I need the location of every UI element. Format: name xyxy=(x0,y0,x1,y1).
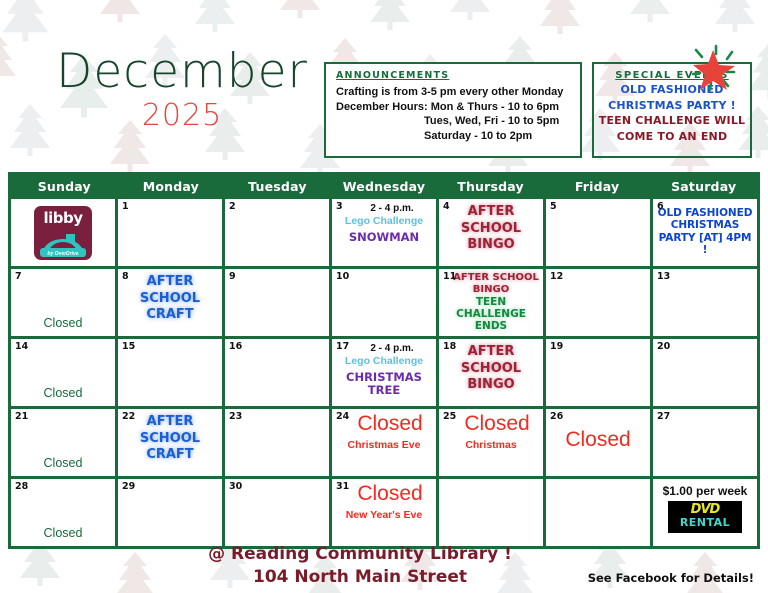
special-events-red-line-1: TEEN CHALLENGE WILL xyxy=(594,115,750,128)
day-number: 26 xyxy=(550,411,563,422)
day-cell-19[interactable]: 19 xyxy=(546,339,650,406)
weekday-header-wednesday: Wednesday xyxy=(331,175,438,199)
special-events-blue-line-2: CHRISTMAS PARTY ! xyxy=(594,100,750,113)
event-teen-line-2: ENDS xyxy=(475,321,507,333)
weekday-header-monday: Monday xyxy=(118,175,225,199)
event-teen-line-1: TEEN CHALLENGE xyxy=(441,297,541,321)
closed-label: Closed xyxy=(11,316,115,330)
day-number: 10 xyxy=(336,271,349,282)
dvd-rental-logo: DVD RENTAL xyxy=(668,501,742,533)
day-cell-17[interactable]: 17 2 - 4 p.m. Lego Challenge CHRISTMAS T… xyxy=(332,339,436,406)
month-title-block: December 2025 xyxy=(52,48,312,131)
day-cell-empty-1 xyxy=(439,479,543,546)
day-number: 27 xyxy=(657,411,670,422)
day-number: 8 xyxy=(122,271,129,282)
calendar-weekday-header-row: Sunday Monday Tuesday Wednesday Thursday… xyxy=(11,175,757,199)
day-cell-14[interactable]: 14 Closed xyxy=(11,339,115,406)
day-cell-10[interactable]: 10 xyxy=(332,269,436,336)
closed-label: Closed xyxy=(11,526,115,540)
day-number: 16 xyxy=(229,341,242,352)
day-number: 30 xyxy=(229,481,242,492)
day-number: 23 xyxy=(229,411,242,422)
event-bingo-line-2: BINGO xyxy=(473,284,509,295)
day-number: 4 xyxy=(443,201,450,212)
event-time: 2 - 4 p.m. xyxy=(354,203,413,214)
day-cell-2[interactable]: 2 xyxy=(225,199,329,266)
event-bingo-line-1: AFTER SCHOOL xyxy=(443,272,539,283)
event-craft-line-3: CRAFT xyxy=(146,307,193,324)
day-number: 3 xyxy=(336,201,343,212)
event-craft-line-1: AFTER xyxy=(147,414,194,431)
facebook-note: See Facebook for Details! xyxy=(588,571,754,585)
day-cell-12[interactable]: 12 xyxy=(546,269,650,336)
day-number: 7 xyxy=(15,271,22,282)
event-party-line-3: PARTY [AT] 4PM ! xyxy=(655,232,755,257)
announcements-heading: ANNOUNCEMENTS xyxy=(336,70,572,81)
day-cell-3[interactable]: 3 2 - 4 p.m. Lego Challenge SNOWMAN xyxy=(332,199,436,266)
holiday-label: New Year's Eve xyxy=(346,509,422,521)
announcements-line-4: Saturday - 10 to 2pm xyxy=(336,129,572,144)
day-cell-dvd-rental[interactable]: $1.00 per week DVD RENTAL xyxy=(653,479,757,546)
closed-label: Closed xyxy=(345,413,422,434)
day-cell-27[interactable]: 27 xyxy=(653,409,757,476)
day-cell-16[interactable]: 16 xyxy=(225,339,329,406)
page-footer: @ Reading Community Library ! 104 North … xyxy=(0,540,768,593)
day-cell-20[interactable]: 20 xyxy=(653,339,757,406)
weekday-header-sunday: Sunday xyxy=(11,175,118,199)
day-number: 24 xyxy=(336,411,349,422)
event-theme: CHRISTMAS TREE xyxy=(334,371,434,399)
weekday-header-saturday: Saturday xyxy=(650,175,757,199)
star-icon xyxy=(686,44,738,94)
event-craft-line-2: SCHOOL xyxy=(140,291,200,308)
day-cell-31[interactable]: 31 Closed New Year's Eve xyxy=(332,479,436,546)
day-number: 31 xyxy=(336,481,349,492)
announcements-line-1: Crafting is from 3-5 pm every other Mond… xyxy=(336,85,572,100)
event-craft-line-2: SCHOOL xyxy=(140,431,200,448)
day-number: 1 xyxy=(122,201,129,212)
announcements-line-2: December Hours: Mon & Thurs - 10 to 6pm xyxy=(336,100,572,115)
library-name: @ Reading Community Library ! xyxy=(120,543,600,566)
announcements-box: ANNOUNCEMENTS Crafting is from 3-5 pm ev… xyxy=(324,62,582,158)
event-bingo-line-3: BINGO xyxy=(467,237,514,254)
day-number: 19 xyxy=(550,341,563,352)
day-number: 13 xyxy=(657,271,670,282)
closed-label: Closed xyxy=(345,483,422,504)
day-cell-18[interactable]: 18 AFTER SCHOOL BINGO xyxy=(439,339,543,406)
day-cell-libby[interactable]: libby by OverDrive xyxy=(11,199,115,266)
day-cell-28[interactable]: 28 Closed xyxy=(11,479,115,546)
event-program: Lego Challenge xyxy=(345,215,423,229)
day-cell-6[interactable]: 6 OLD FASHIONED CHRISTMAS PARTY [AT] 4PM… xyxy=(653,199,757,266)
day-number: 17 xyxy=(336,341,349,352)
announcements-line-3: Tues, Wed, Fri - 10 to 5pm xyxy=(336,114,572,129)
calendar-body: libby by OverDrive 1 2 3 xyxy=(11,199,757,546)
day-number: 14 xyxy=(15,341,28,352)
closed-label: Closed xyxy=(452,413,529,434)
event-theme: SNOWMAN xyxy=(349,231,419,245)
day-cell-5[interactable]: 5 xyxy=(546,199,650,266)
event-bingo-line-1: AFTER xyxy=(468,344,515,361)
dvd-price-label: $1.00 per week xyxy=(663,484,748,498)
event-party-line-1: OLD FASHIONED xyxy=(658,207,753,219)
day-number: 12 xyxy=(550,271,563,282)
day-number: 20 xyxy=(657,341,670,352)
event-time: 2 - 4 p.m. xyxy=(354,343,413,354)
day-cell-30[interactable]: 30 xyxy=(225,479,329,546)
day-number: 9 xyxy=(229,271,236,282)
day-cell-4[interactable]: 4 AFTER SCHOOL BINGO xyxy=(439,199,543,266)
day-cell-23[interactable]: 23 xyxy=(225,409,329,476)
day-cell-21[interactable]: 21 Closed xyxy=(11,409,115,476)
weekday-header-thursday: Thursday xyxy=(437,175,544,199)
day-cell-8[interactable]: 8 AFTER SCHOOL CRAFT xyxy=(118,269,222,336)
day-number: 15 xyxy=(122,341,135,352)
day-number: 29 xyxy=(122,481,135,492)
library-street: 104 North Main Street xyxy=(120,566,600,589)
calendar-grid: Sunday Monday Tuesday Wednesday Thursday… xyxy=(8,172,760,549)
day-cell-25[interactable]: 25 Closed Christmas xyxy=(439,409,543,476)
holiday-label: Christmas xyxy=(465,439,516,451)
libby-logo: libby by OverDrive xyxy=(34,206,92,260)
event-bingo-line-3: BINGO xyxy=(467,377,514,394)
day-cell-15[interactable]: 15 xyxy=(118,339,222,406)
weekday-header-tuesday: Tuesday xyxy=(224,175,331,199)
day-cell-9[interactable]: 9 xyxy=(225,269,329,336)
day-number: 5 xyxy=(550,201,557,212)
day-number: 2 xyxy=(229,201,236,212)
libby-overdrive-label: by OverDrive xyxy=(34,251,92,257)
day-number: 18 xyxy=(443,341,456,352)
closed-label: Closed xyxy=(11,456,115,470)
closed-label: Closed xyxy=(565,429,630,450)
day-cell-1[interactable]: 1 xyxy=(118,199,222,266)
day-cell-22[interactable]: 22 AFTER SCHOOL CRAFT xyxy=(118,409,222,476)
day-number: 22 xyxy=(122,411,135,422)
calendar-page: December 2025 ANNOUNCEMENTS Crafting is … xyxy=(0,0,768,593)
holiday-label: Christmas Eve xyxy=(348,439,421,451)
closed-label: Closed xyxy=(11,386,115,400)
day-number: 6 xyxy=(657,201,664,212)
day-cell-13[interactable]: 13 xyxy=(653,269,757,336)
day-cell-empty-2 xyxy=(546,479,650,546)
event-craft-line-1: AFTER xyxy=(147,274,194,291)
event-craft-line-3: CRAFT xyxy=(146,447,193,464)
day-number: 11 xyxy=(443,271,456,282)
day-cell-26[interactable]: 26 Closed xyxy=(546,409,650,476)
event-program: Lego Challenge xyxy=(345,355,423,369)
dvd-wordmark: DVD xyxy=(668,502,742,517)
special-events-red-line-2: COME TO AN END xyxy=(594,131,750,144)
day-cell-29[interactable]: 29 xyxy=(118,479,222,546)
day-cell-7[interactable]: 7 Closed xyxy=(11,269,115,336)
event-party-line-2: CHRISTMAS xyxy=(671,219,739,231)
day-number: 25 xyxy=(443,411,456,422)
event-bingo-line-1: AFTER xyxy=(468,204,515,221)
event-bingo-line-2: SCHOOL xyxy=(461,361,521,378)
weekday-header-friday: Friday xyxy=(544,175,651,199)
day-cell-11[interactable]: 11 AFTER SCHOOL BINGO TEEN CHALLENGE END… xyxy=(439,269,543,336)
day-cell-24[interactable]: 24 Closed Christmas Eve xyxy=(332,409,436,476)
year-label: 2025 xyxy=(52,101,312,131)
libby-wordmark: libby xyxy=(34,209,92,227)
library-address-block: @ Reading Community Library ! 104 North … xyxy=(120,543,600,589)
event-bingo-line-2: SCHOOL xyxy=(461,221,521,238)
page-title: December xyxy=(52,48,312,95)
page-header: December 2025 ANNOUNCEMENTS Crafting is … xyxy=(0,0,768,168)
day-number: 21 xyxy=(15,411,28,422)
day-number: 28 xyxy=(15,481,28,492)
dvd-rental-wordmark: RENTAL xyxy=(668,517,742,528)
